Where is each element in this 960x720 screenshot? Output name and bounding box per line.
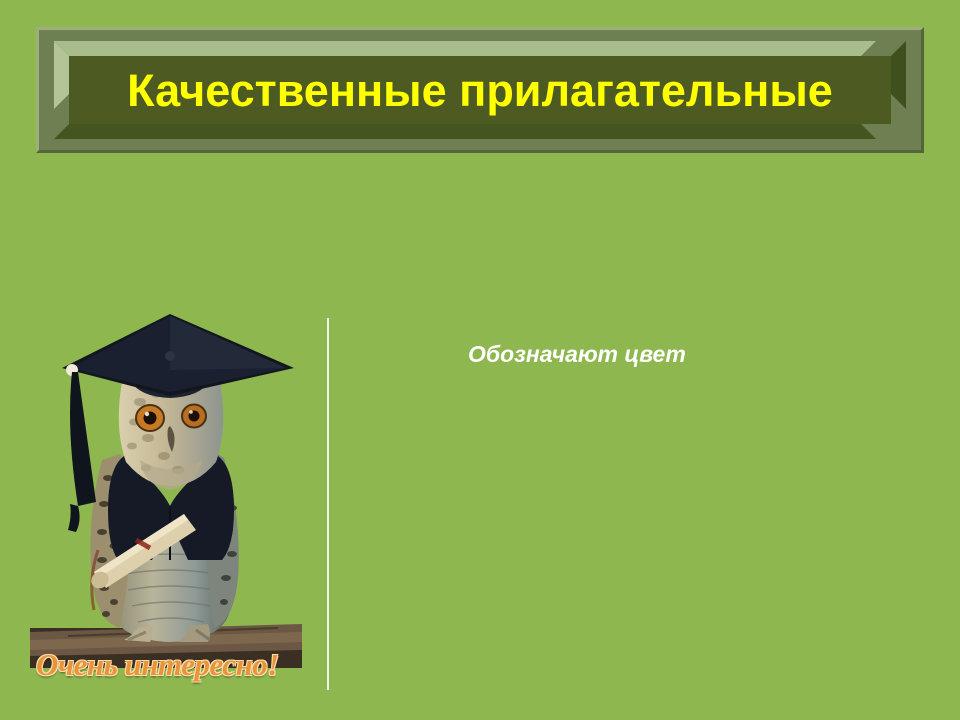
plaque-inner-frame: Качественные прилагательные — [54, 41, 906, 139]
owl-illustration — [28, 310, 312, 692]
title-plaque: Качественные прилагательные — [36, 27, 924, 153]
bevel-top-edge — [54, 41, 876, 56]
bevel-bottom-edge — [54, 124, 876, 139]
vertical-divider — [327, 318, 329, 690]
graduation-cap-icon — [62, 314, 294, 398]
banner-caption: Очень интересно! — [30, 645, 312, 690]
tassel-icon — [66, 364, 96, 532]
presentation-slide: Качественные прилагательные Обозначают ц… — [0, 0, 960, 720]
bevel-right-edge — [891, 41, 906, 109]
bevel-left-edge — [54, 41, 69, 109]
title-panel: Качественные прилагательные — [69, 56, 891, 124]
slide-title: Качественные прилагательные — [127, 68, 833, 113]
slide-body-text: Обозначают цвет — [468, 342, 686, 367]
banner-caption-text: Очень интересно! — [36, 647, 279, 683]
owl-graduate-graphic — [28, 310, 312, 692]
